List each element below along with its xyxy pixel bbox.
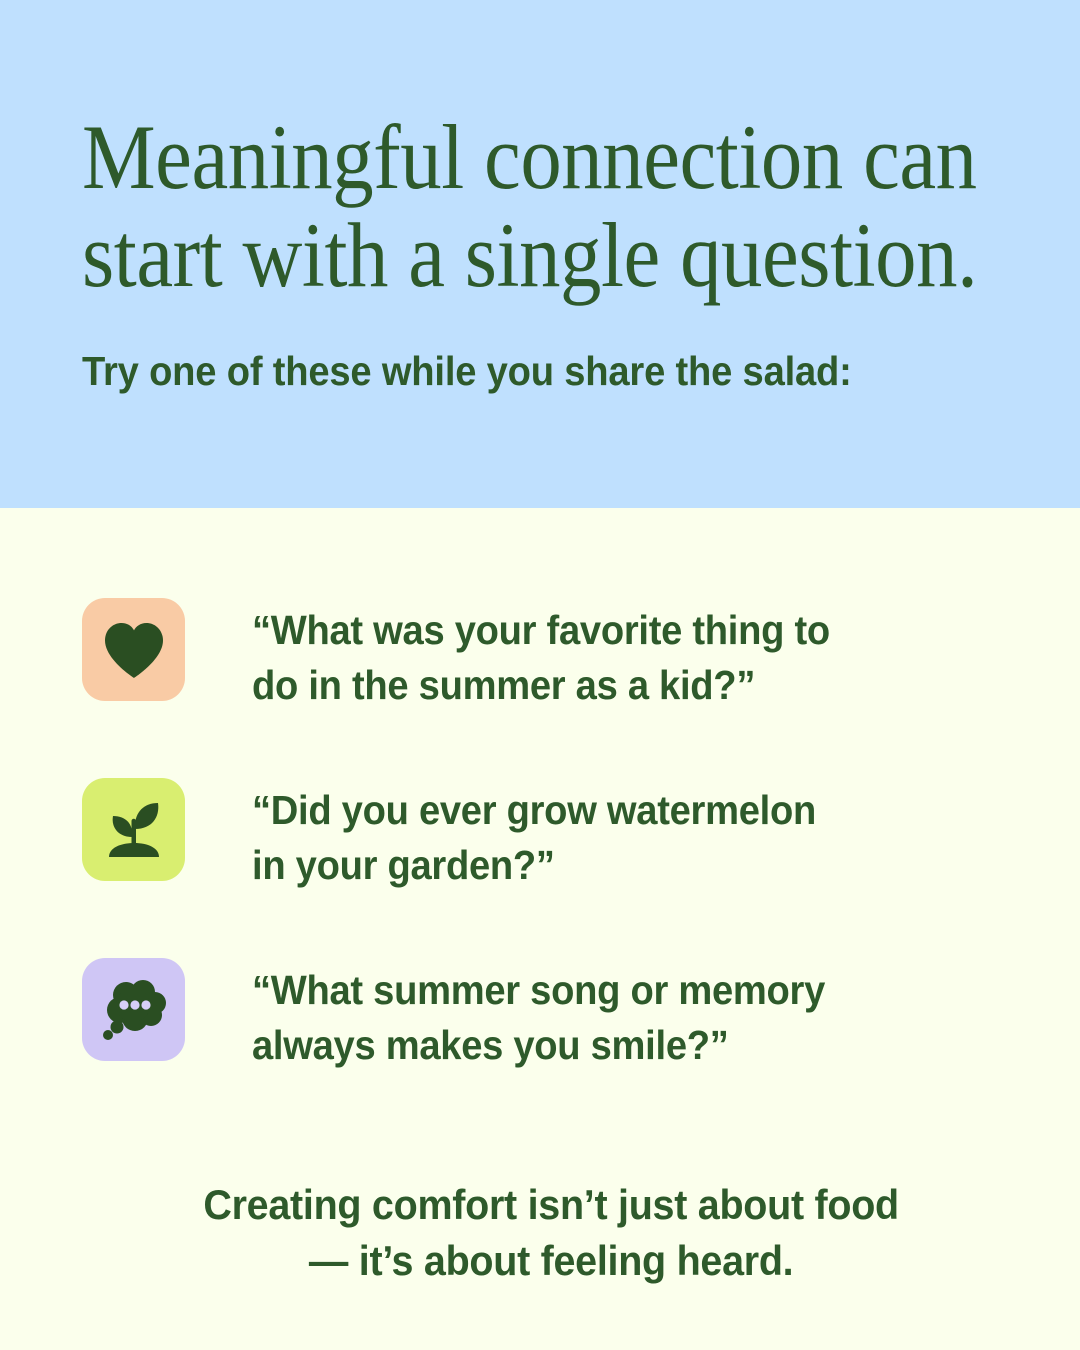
list-item: “What was your favorite thing to do in t… bbox=[82, 598, 1020, 712]
questions-section: “What was your favorite thing to do in t… bbox=[0, 508, 1080, 1350]
list-item: “Did you ever grow watermelon in your ga… bbox=[82, 778, 1020, 892]
seedling-icon bbox=[101, 799, 167, 861]
question-icon-tile-2 bbox=[82, 778, 185, 881]
question-icon-tile-3 bbox=[82, 958, 185, 1061]
thought-bubble-icon bbox=[100, 978, 168, 1042]
question-text-3: “What summer song or memory always makes… bbox=[252, 958, 966, 1072]
closing-statement: Creating comfort isn’t just about food —… bbox=[84, 1177, 1019, 1289]
hero-section: Meaningful connection can start with a s… bbox=[0, 0, 1080, 508]
question-text-2: “Did you ever grow watermelon in your ga… bbox=[252, 778, 966, 892]
list-item: “What summer song or memory always makes… bbox=[82, 958, 1020, 1072]
poster: Meaningful connection can start with a s… bbox=[0, 0, 1080, 1350]
question-text-1: “What was your favorite thing to do in t… bbox=[252, 598, 966, 712]
question-list: “What was your favorite thing to do in t… bbox=[82, 598, 1020, 1072]
question-icon-tile-1 bbox=[82, 598, 185, 701]
page-title: Meaningful connection can start with a s… bbox=[82, 108, 1003, 305]
hero-subtitle: Try one of these while you share the sal… bbox=[82, 347, 999, 396]
heart-icon bbox=[103, 621, 165, 679]
